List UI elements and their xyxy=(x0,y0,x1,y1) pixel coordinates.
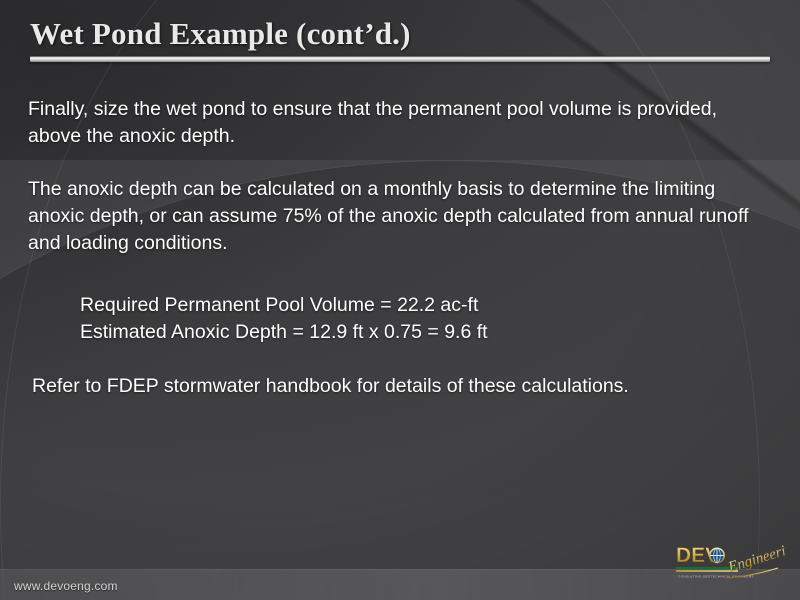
calculation-line: Estimated Anoxic Depth = 12.9 ft x 0.75 … xyxy=(80,319,488,346)
title-underline-rule xyxy=(30,56,770,62)
page-title: Wet Pond Example (cont’d.) xyxy=(30,16,774,52)
calculation-line: Required Permanent Pool Volume = 22.2 ac… xyxy=(80,292,488,319)
slide-canvas: Wet Pond Example (cont’d.) Finally, size… xyxy=(0,0,800,600)
closing-note: Refer to FDEP stormwater handbook for de… xyxy=(32,373,629,400)
body-paragraph: The anoxic depth can be calculated on a … xyxy=(28,176,758,257)
body-paragraph: Finally, size the wet pond to ensure tha… xyxy=(28,96,758,150)
calculation-block: Required Permanent Pool Volume = 22.2 ac… xyxy=(80,292,488,346)
body-text-block: Finally, size the wet pond to ensure tha… xyxy=(28,96,758,257)
logo-globe-icon xyxy=(710,548,724,562)
devo-engineering-logo: DEV CONSULTING GEOTECHNICAL ENGINEERS En… xyxy=(674,540,786,586)
title-block: Wet Pond Example (cont’d.) xyxy=(30,16,774,62)
footer-website-url: www.devoeng.com xyxy=(14,579,118,593)
logo-tagline-text: Engineering xyxy=(726,540,786,576)
